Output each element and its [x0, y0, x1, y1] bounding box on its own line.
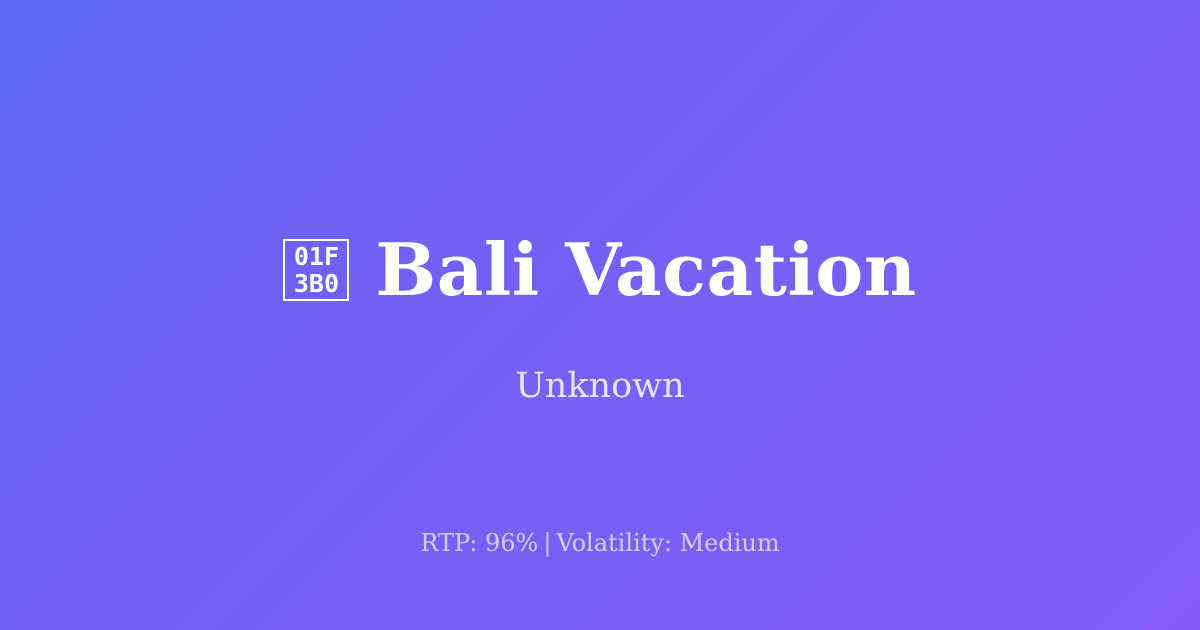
game-og-card: 01F 3B0 Bali Vacation Unknown RTP: 96%|V… — [0, 0, 1200, 630]
game-title: Bali Vacation — [375, 232, 916, 308]
volatility-value: Volatility: Medium — [556, 529, 779, 557]
game-stats-line: RTP: 96%|Volatility: Medium — [0, 528, 1200, 558]
game-provider: Unknown — [0, 364, 1200, 408]
codepoint-top: 01F — [294, 243, 339, 270]
slot-machine-icon: 01F 3B0 — [283, 239, 349, 301]
codepoint-bottom: 3B0 — [294, 270, 339, 297]
title-block: 01F 3B0 Bali Vacation — [0, 232, 1200, 308]
rtp-value: RTP: 96% — [420, 529, 538, 557]
stats-separator: | — [538, 529, 556, 557]
